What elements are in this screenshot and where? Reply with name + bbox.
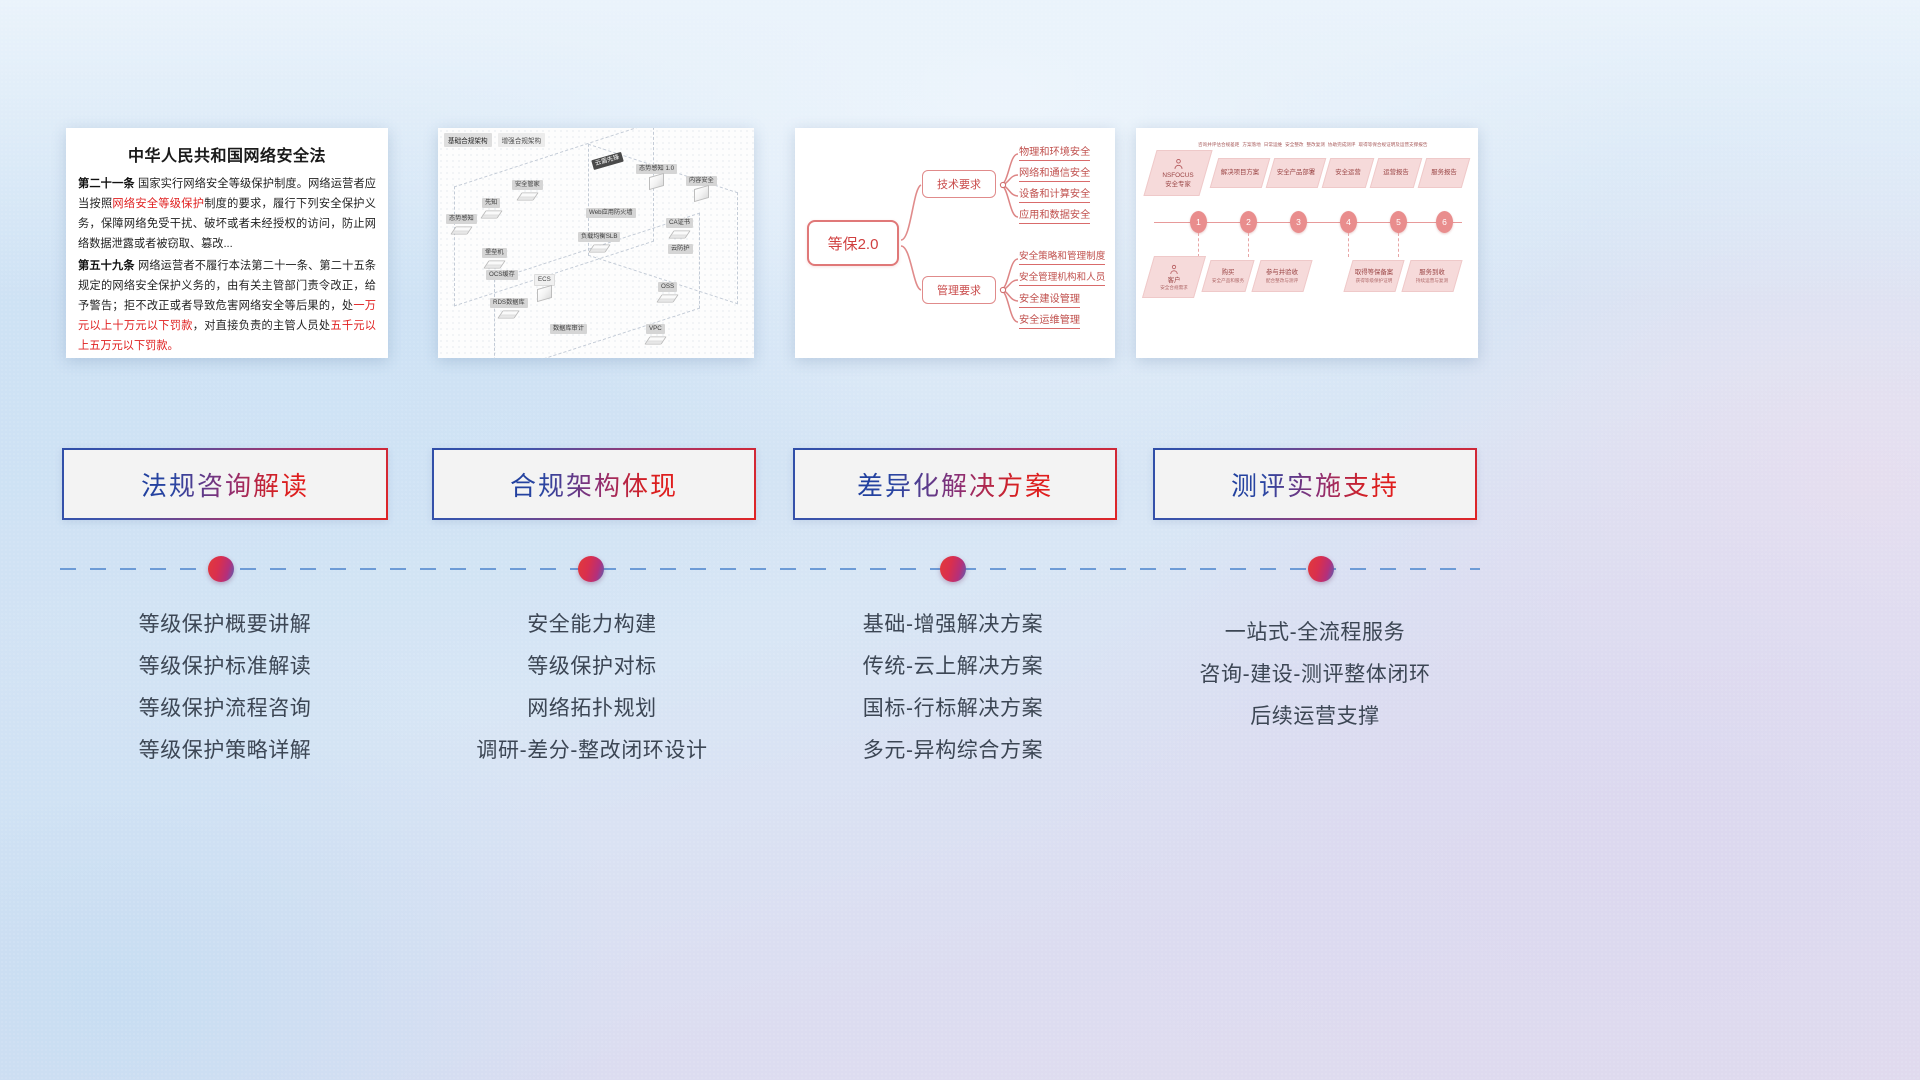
arch-node-label: CA证书 (666, 218, 693, 228)
roadmap-lower-stage-1: 购买 安全产品和服务 (1201, 260, 1254, 292)
disc-icon (450, 226, 472, 234)
roadmap-stage-title: 解决项目方案 (1221, 169, 1259, 176)
list-item: 等级保护概要讲解 (60, 604, 390, 646)
list-item: 等级保护标准解读 (60, 646, 390, 688)
thumbnail-row: 中华人民共和国网络安全法 第二十一条 国家实行网络安全等级保护制度。网络运营者应… (0, 0, 1920, 380)
law-body: 第二十一条 国家实行网络安全等级保护制度。网络运营者应当按照网络安全等级保护制度… (66, 175, 388, 356)
roadmap-top-chip-strip: 咨询并评估合规差距 方案落地 日常运维 安全整改 整改复测 协助完成测评 取得等… (1198, 142, 1427, 148)
arch-node-label: 态势感知 1.0 (636, 164, 677, 174)
mindmap-branch-technical: 技术要求 (922, 170, 996, 198)
customer-badge-line1: 客户 (1168, 277, 1181, 284)
architecture-diagram: 基础合规架构 增强合规架构 态势感知 先知 安全管家 (438, 128, 754, 358)
mindmap-leaf-policy-system: 安全策略和管理制度 (1019, 248, 1105, 265)
list-item: 安全能力构建 (427, 604, 757, 646)
arch-node-oss: OSS (658, 282, 677, 304)
roadmap-tick (1398, 233, 1399, 257)
disc-icon (483, 260, 505, 268)
roadmap-lower-stage-2: 参与并验收 配合整改与测评 (1251, 260, 1312, 292)
mindmap-leaf-org-personnel: 安全管理机构和人员 (1019, 269, 1105, 286)
arch-node-ecs: ECS (534, 274, 555, 300)
arch-node-label: 先知 (482, 198, 500, 208)
arch-node-label: VPC (646, 324, 665, 334)
banner-compliance-architecture[interactable]: 合规架构体现 (432, 448, 756, 520)
law-paragraph-2: 第五十九条 网络运营者不履行本法第二十一条、第二十五条规定的网络安全保护义务的，… (78, 257, 376, 357)
roadmap-lower-stage-4: 服务到收 持续运营与复测 (1401, 260, 1462, 292)
arch-node-label: Web应用防火墙 (586, 208, 636, 218)
arch-node-label: RDS数据库 (490, 298, 528, 308)
roadmap-stage-title: 安全运营 (1335, 169, 1361, 176)
arch-node-label: OCS缓存 (486, 270, 518, 280)
column-list-4: 一站式-全流程服务 咨询-建设-测评整体闭环 后续运营支撑 (1150, 612, 1480, 738)
roadmap-stage-title: 运营报告 (1383, 169, 1409, 176)
arch-node-situation-10: 态势感知 1.0 (636, 164, 677, 188)
arch-node-slb: 负载均衡SLB (578, 232, 620, 254)
roadmap-stage-4: 运营报告 (1370, 158, 1423, 188)
banner-label: 差异化解决方案 (857, 466, 1053, 503)
list-item: 多元-异构综合方案 (788, 730, 1118, 772)
arch-node-db-audit: 数据库审计 (550, 324, 587, 334)
roadmap-lower-sub: 配合整改与测评 (1266, 278, 1298, 283)
customer-badge-line2: 安全合规需求 (1160, 285, 1188, 290)
roadmap-tick (1348, 233, 1349, 257)
arch-node-vpc: VPC (646, 324, 665, 346)
arch-node-label: 态势感知 (446, 214, 477, 224)
mindmap-branch-management: 管理要求 (922, 276, 996, 304)
column-list-3: 基础-增强解决方案 传统-云上解决方案 国标-行标解决方案 多元-异构综合方案 (788, 604, 1118, 772)
arch-node-label: OSS (658, 282, 677, 292)
roadmap-stage-title: 服务报告 (1431, 169, 1457, 176)
arch-node-label: 堡垒机 (482, 248, 507, 258)
timeline-dashed-line (60, 568, 1480, 570)
roadmap-stage-1: 解决项目方案 (1210, 158, 1271, 188)
timeline-dot-4[interactable] (1308, 556, 1334, 582)
slide-stage: 中华人民共和国网络安全法 第二十一条 国家实行网络安全等级保护制度。网络运营者应… (0, 0, 1920, 1080)
cube-icon (694, 185, 709, 202)
law-title: 中华人民共和国网络安全法 (66, 142, 388, 166)
card-nsfocus-roadmap[interactable]: 咨询并评估合规差距 方案落地 日常运维 安全整改 整改复测 协助完成测评 取得等… (1136, 128, 1478, 358)
list-item: 传统-云上解决方案 (788, 646, 1118, 688)
roadmap-lower-sub: 持续运营与复测 (1416, 278, 1448, 283)
roadmap-stage-3: 安全运营 (1322, 158, 1375, 188)
banner-label: 合规架构体现 (510, 466, 678, 503)
architecture-tab-enhanced[interactable]: 增强合规架构 (498, 133, 546, 147)
roadmap-top-chip: 取得等保合规证明及运营支撑报告 (1359, 142, 1428, 148)
arch-node-xianzhi: 先知 (482, 198, 500, 220)
mindmap-root-node: 等保2.0 (807, 220, 899, 266)
law-p1-highlight: 网络安全等级保护 (112, 198, 204, 210)
roadmap-customer-badge: 客户 安全合规需求 (1142, 256, 1206, 298)
list-item: 等级保护策略详解 (60, 730, 390, 772)
arch-node-label: 内容安全 (686, 176, 717, 186)
timeline-dot-2[interactable] (578, 556, 604, 582)
roadmap-expert-badge: NSFOCUS 安全专家 (1143, 150, 1212, 196)
roadmap-top-chip: 咨询并评估合规差距 (1198, 142, 1239, 148)
banner-label: 测评实施支持 (1231, 466, 1399, 503)
roadmap-top-chip: 日常运维 (1264, 142, 1282, 148)
roadmap-node-3: 3 (1290, 211, 1307, 233)
architecture-tabs[interactable]: 基础合规架构 增强合规架构 (444, 133, 545, 147)
arch-node-ocs-cache: OCS缓存 (486, 270, 518, 280)
roadmap-node-4: 4 (1340, 211, 1357, 233)
arch-node-ca-cert: CA证书 (666, 218, 693, 240)
roadmap-tick (1248, 233, 1249, 257)
roadmap-lower-sub: 安全产品和服务 (1212, 278, 1244, 283)
disc-icon (588, 244, 610, 252)
arch-node-label: 安全管家 (512, 180, 543, 190)
banner-label: 法规咨询解读 (141, 466, 309, 503)
disc-icon (656, 294, 678, 302)
roadmap-top-chip: 安全整改 (1285, 142, 1303, 148)
roadmap-stage-5: 服务报告 (1418, 158, 1471, 188)
roadmap-lower-sub: 获得等级保护证明 (1356, 278, 1393, 283)
law-p2-seg3: ，对直接负责的主管人员处 (193, 320, 331, 332)
architecture-tab-basic[interactable]: 基础合规架构 (444, 133, 492, 147)
list-item: 基础-增强解决方案 (788, 604, 1118, 646)
roadmap-lower-title: 服务到收 (1419, 269, 1445, 276)
list-item: 咨询-建设-测评整体闭环 (1150, 654, 1480, 696)
roadmap-lower-stage-3: 取得等保备案 获得等级保护证明 (1343, 260, 1404, 292)
roadmap-diagram: 咨询并评估合规差距 方案落地 日常运维 安全整改 整改复测 协助完成测评 取得等… (1136, 128, 1478, 358)
arch-node-bastion-host: 堡垒机 (482, 248, 507, 270)
banner-regulation-consulting[interactable]: 法规咨询解读 (62, 448, 388, 520)
card-compliance-architecture[interactable]: 基础合规架构 增强合规架构 态势感知 先知 安全管家 (438, 128, 754, 358)
arch-node-label: 云防护 (668, 244, 693, 254)
card-cybersecurity-law[interactable]: 中华人民共和国网络安全法 第二十一条 国家实行网络安全等级保护制度。网络运营者应… (66, 128, 388, 358)
roadmap-top-chip: 方案落地 (1242, 142, 1260, 148)
expert-person-icon (1172, 158, 1185, 171)
cube-icon (649, 173, 664, 190)
mindmap-leaf-device-compute: 设备和计算安全 (1019, 185, 1090, 203)
arch-node-label: 负载均衡SLB (578, 232, 620, 242)
arch-node-rds: RDS数据库 (490, 298, 528, 320)
list-item: 等级保护对标 (427, 646, 757, 688)
roadmap-stage-2: 安全产品部署 (1266, 158, 1327, 188)
banner-assessment-support[interactable]: 测评实施支持 (1153, 448, 1477, 520)
roadmap-tick (1198, 233, 1199, 257)
list-item: 后续运营支撑 (1150, 696, 1480, 738)
law-article-label-2: 第五十九条 (78, 260, 135, 272)
arch-node-waf: Web应用防火墙 (586, 208, 636, 218)
timeline-dot-3[interactable] (940, 556, 966, 582)
mindmap-leaf-construction-mgmt: 安全建设管理 (1019, 290, 1080, 308)
list-item: 网络拓扑规划 (427, 688, 757, 730)
roadmap-top-chip: 整改复测 (1307, 142, 1325, 148)
disc-icon (644, 336, 666, 344)
mindmap-leaf-ops-mgmt: 安全运维管理 (1019, 311, 1080, 329)
law-article-label-1: 第二十一条 (78, 178, 135, 190)
list-item: 调研-差分-整改闭环设计 (427, 730, 757, 772)
arch-node-situation-awareness: 态势感知 (446, 214, 477, 236)
column-list-2: 安全能力构建 等级保护对标 网络拓扑规划 调研-差分-整改闭环设计 (427, 604, 757, 772)
disc-icon (498, 310, 520, 318)
arch-node-label: 数据库审计 (550, 324, 587, 334)
disc-icon (516, 192, 538, 200)
banner-differentiated-solution[interactable]: 差异化解决方案 (793, 448, 1117, 520)
roadmap-node-5: 5 (1390, 211, 1407, 233)
disc-icon (668, 230, 690, 238)
timeline-dot-1[interactable] (208, 556, 234, 582)
roadmap-node-2: 2 (1240, 211, 1257, 233)
roadmap-lower-title: 购买 (1222, 269, 1235, 276)
cube-icon (537, 285, 552, 302)
roadmap-node-1: 1 (1190, 211, 1207, 233)
roadmap-stage-title: 安全产品部署 (1277, 169, 1315, 176)
card-dengbao-mindmap[interactable]: 等保2.0 技术要求 管理要求 物理和环境安全 网络和通信安全 设备和计算安全 … (795, 128, 1115, 358)
roadmap-lower-title: 取得等保备案 (1355, 269, 1393, 276)
column-list-1: 等级保护概要讲解 等级保护标准解读 等级保护流程咨询 等级保护策略详解 (60, 604, 390, 772)
list-item: 一站式-全流程服务 (1150, 612, 1480, 654)
customer-person-icon (1168, 264, 1180, 276)
mindmap-leaf-network-comm: 网络和通信安全 (1019, 164, 1090, 182)
law-paragraph-1: 第二十一条 国家实行网络安全等级保护制度。网络运营者应当按照网络安全等级保护制度… (78, 175, 376, 255)
roadmap-lower-title: 参与并验收 (1266, 269, 1298, 276)
arch-node-content-security: 内容安全 (686, 176, 717, 200)
mindmap-leaf-physical-env: 物理和环境安全 (1019, 143, 1090, 161)
expert-badge-line1: NSFOCUS (1162, 172, 1193, 179)
roadmap-node-6: 6 (1436, 211, 1453, 233)
list-item: 国标-行标解决方案 (788, 688, 1118, 730)
arch-node-security-butler: 安全管家 (512, 180, 543, 202)
list-item: 等级保护流程咨询 (60, 688, 390, 730)
expert-badge-line2: 安全专家 (1165, 181, 1191, 188)
mindmap-leaf-app-data: 应用和数据安全 (1019, 206, 1090, 224)
mindmap-diagram: 等保2.0 技术要求 管理要求 物理和环境安全 网络和通信安全 设备和计算安全 … (795, 128, 1115, 358)
arch-node-cloud-protect: 云防护 (668, 244, 693, 254)
timeline (60, 568, 1480, 570)
roadmap-top-chip: 协助完成测评 (1328, 142, 1356, 148)
disc-icon (480, 210, 502, 218)
